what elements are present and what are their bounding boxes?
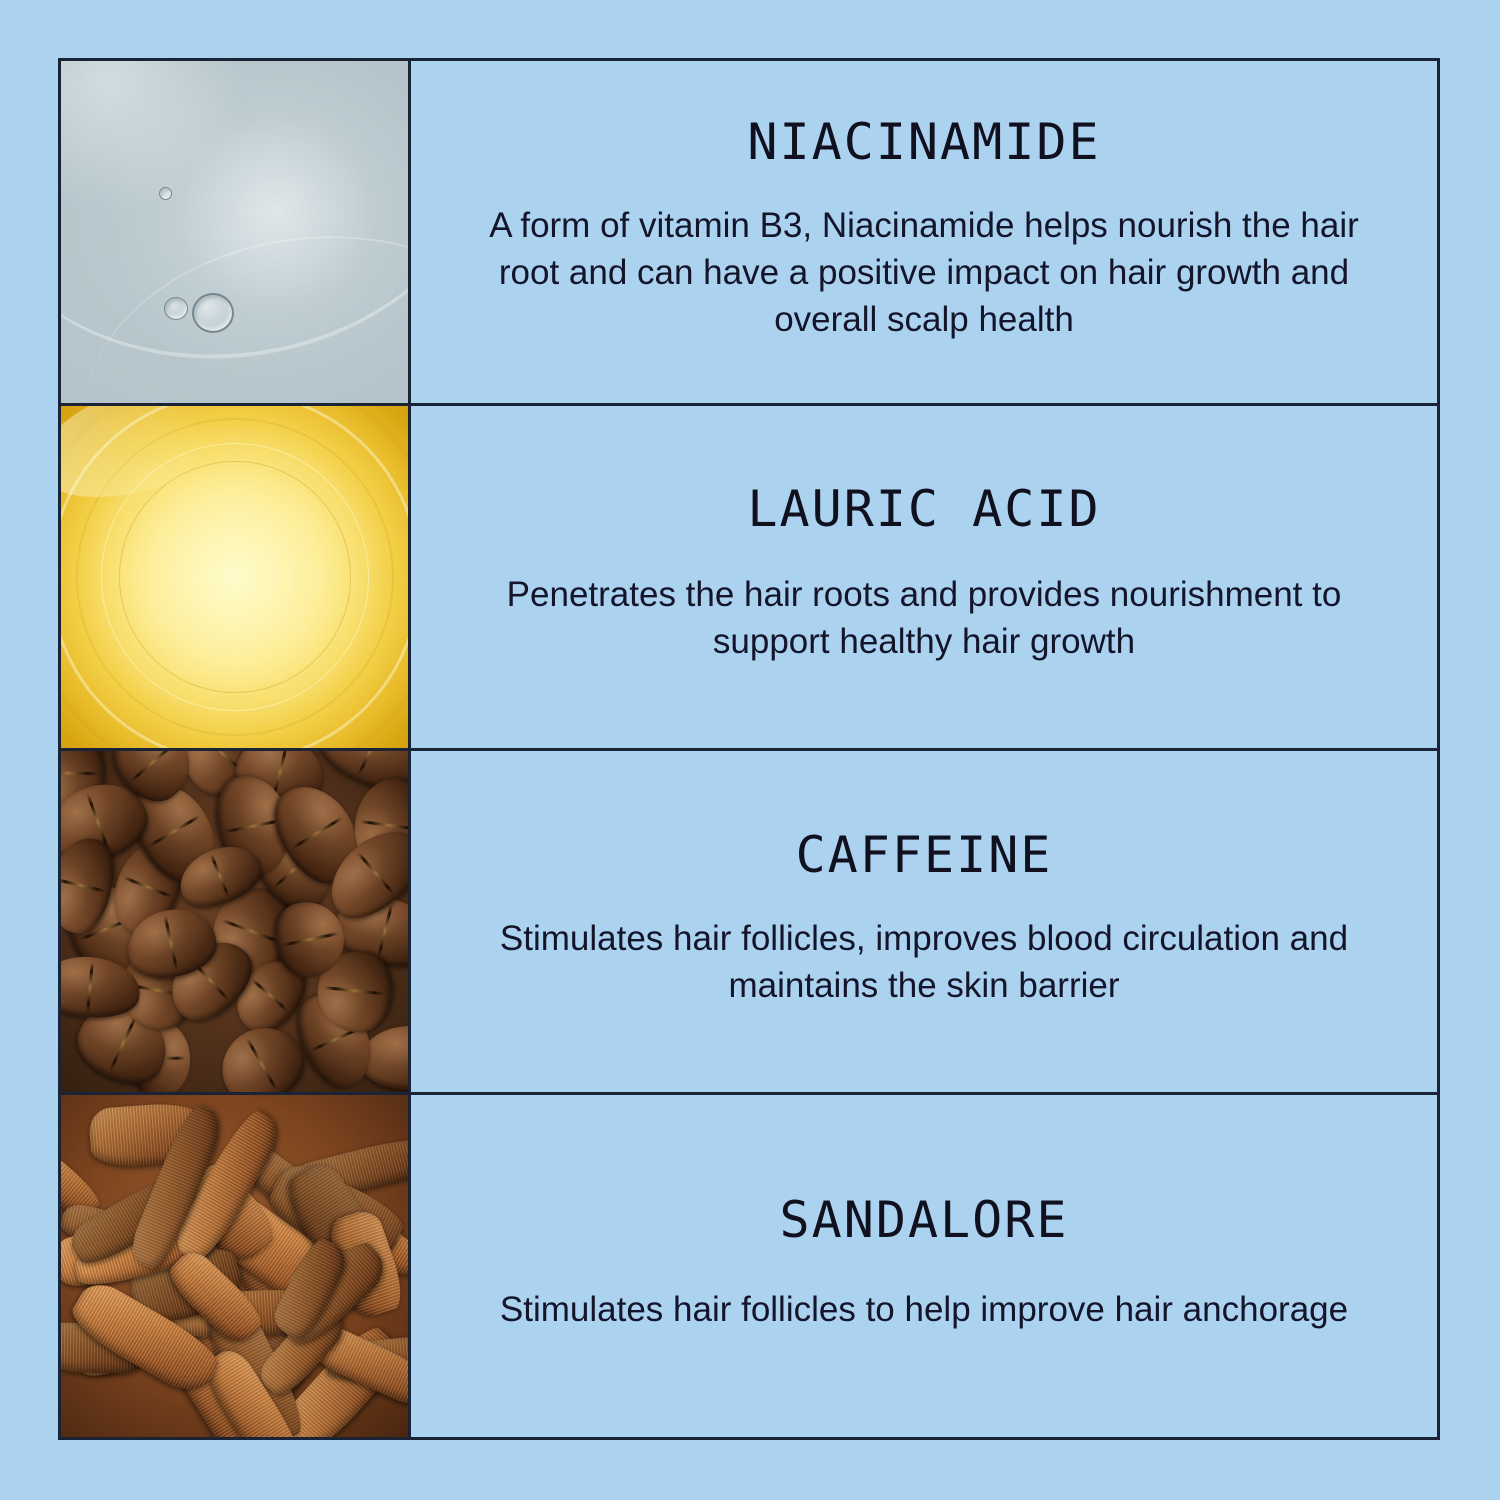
ingredient-description: Stimulates hair follicles, improves bloo… bbox=[464, 916, 1384, 1010]
ingredient-description: Penetrates the hair roots and provides n… bbox=[464, 572, 1384, 666]
ingredient-image-sandalore bbox=[61, 1095, 411, 1437]
ingredient-name: SANDALORE bbox=[780, 1194, 1069, 1247]
bubble-small-icon bbox=[159, 187, 172, 200]
ingredient-image-niacinamide bbox=[61, 61, 411, 403]
serum-droplets-photo bbox=[61, 61, 408, 403]
golden-oil-photo bbox=[61, 406, 408, 748]
ingredient-text-caffeine: CAFFEINE Stimulates hair follicles, impr… bbox=[411, 751, 1437, 1093]
ingredient-image-lauric-acid bbox=[61, 406, 411, 748]
ingredient-text-niacinamide: NIACINAMIDE A form of vitamin B3, Niacin… bbox=[411, 61, 1437, 403]
ingredient-name: NIACINAMIDE bbox=[747, 116, 1100, 169]
ingredient-description: A form of vitamin B3, Niacinamide helps … bbox=[457, 203, 1391, 344]
ingredient-benefits-table: NIACINAMIDE A form of vitamin B3, Niacin… bbox=[58, 58, 1440, 1440]
coffee-beans-photo bbox=[61, 751, 408, 1093]
sandalwood-chips-photo bbox=[61, 1095, 408, 1437]
bubble-large-icon bbox=[192, 293, 234, 333]
bubble-medium-icon bbox=[164, 297, 188, 320]
ingredient-description: Stimulates hair follicles to help improv… bbox=[500, 1287, 1348, 1334]
ingredient-row: NIACINAMIDE A form of vitamin B3, Niacin… bbox=[61, 61, 1437, 406]
ingredient-name: CAFFEINE bbox=[796, 829, 1053, 882]
ingredient-text-sandalore: SANDALORE Stimulates hair follicles to h… bbox=[411, 1095, 1437, 1437]
ingredient-image-caffeine bbox=[61, 751, 411, 1093]
ingredient-name: LAURIC ACID bbox=[747, 483, 1100, 536]
ingredient-text-lauric-acid: LAURIC ACID Penetrates the hair roots an… bbox=[411, 406, 1437, 748]
ingredient-row: CAFFEINE Stimulates hair follicles, impr… bbox=[61, 751, 1437, 1096]
ingredient-row: SANDALORE Stimulates hair follicles to h… bbox=[61, 1095, 1437, 1437]
ingredient-row: LAURIC ACID Penetrates the hair roots an… bbox=[61, 406, 1437, 751]
oil-ring-inner bbox=[119, 461, 351, 693]
